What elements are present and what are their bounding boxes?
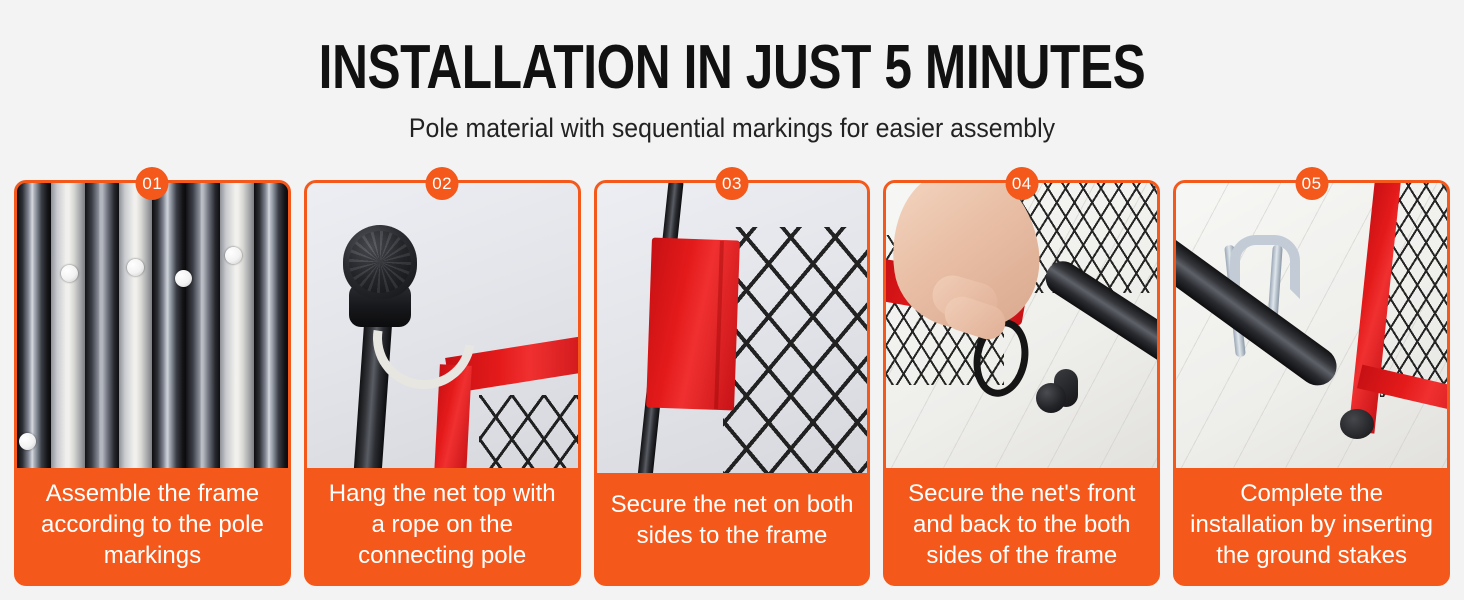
step-photo-02: [307, 183, 578, 468]
pole: [17, 183, 51, 468]
pole-sheen: [167, 183, 169, 468]
pole-marker-sticker: [61, 265, 78, 282]
step-photo-05: [1176, 183, 1447, 468]
header: INSTALLATION IN JUST 5 MINUTES Pole mate…: [0, 0, 1464, 144]
pole-ball-cap: [343, 225, 417, 299]
installation-guide-page: INSTALLATION IN JUST 5 MINUTES Pole mate…: [0, 0, 1464, 600]
pole-marker-sticker: [127, 259, 144, 276]
step-card-02: 02 Hang the net top with a rope on the c…: [304, 180, 581, 586]
step-photo-04: [886, 183, 1157, 468]
step-caption-text: Complete the installation by inserting t…: [1188, 478, 1435, 571]
pole: [152, 183, 186, 468]
step-card-01: 01 Assemble the fram: [14, 180, 291, 586]
pole-sheen: [65, 183, 67, 468]
pole: [85, 183, 119, 468]
step-badge-05: 05: [1295, 167, 1328, 200]
pole: [220, 183, 254, 468]
step-caption-text: Secure the net on both sides to the fram…: [609, 489, 856, 551]
step-photo-01: [17, 183, 288, 468]
net-red-strap: [646, 238, 740, 411]
step-photo-03: [597, 183, 868, 473]
page-title: INSTALLATION IN JUST 5 MINUTES: [146, 0, 1317, 102]
pole-marker-sticker: [225, 247, 242, 264]
step-caption-02: Hang the net top with a rope on the conn…: [307, 468, 578, 583]
step-caption-03: Secure the net on both sides to the fram…: [597, 473, 868, 583]
pole: [51, 183, 85, 468]
pole-sheen: [234, 183, 236, 468]
step-badge-01: 01: [136, 167, 169, 200]
pole: [254, 183, 288, 468]
pole-marker-sticker: [175, 270, 192, 287]
steps-row: 01 Assemble the fram: [14, 180, 1450, 586]
step-card-05: 05 Complete the installation by insertin…: [1173, 180, 1450, 586]
step-badge-03: 03: [715, 167, 748, 200]
pole-end-cap: [1340, 409, 1374, 439]
step-card-04: 04 Secure the net's front and back to th…: [883, 180, 1160, 586]
step-caption-text: Hang the net top with a rope on the conn…: [319, 478, 566, 571]
step-caption-05: Complete the installation by inserting t…: [1176, 468, 1447, 583]
pole-sheen: [99, 183, 101, 468]
net-mesh: [723, 227, 868, 473]
step-badge-02: 02: [426, 167, 459, 200]
pole: [186, 183, 220, 468]
step-caption-text: Assemble the frame according to the pole…: [29, 478, 276, 571]
step-badge-04: 04: [1005, 167, 1038, 200]
frame-poles-image: [17, 183, 288, 468]
net-mesh: [479, 395, 578, 468]
step-caption-01: Assemble the frame according to the pole…: [17, 468, 288, 583]
step-caption-04: Secure the net's front and back to the b…: [886, 468, 1157, 583]
step-card-03: 03 Secure the net on both sides to the f…: [594, 180, 871, 586]
pole-sheen: [31, 183, 33, 468]
pole-sheen: [133, 183, 135, 468]
pole-marker-sticker: [19, 433, 36, 450]
step-caption-text: Secure the net's front and back to the b…: [898, 478, 1145, 571]
page-subtitle: Pole material with sequential markings f…: [59, 102, 1406, 144]
pole-sheen: [268, 183, 270, 468]
pole: [119, 183, 153, 468]
pole-sheen: [200, 183, 202, 468]
cap-ribs: [349, 231, 411, 293]
